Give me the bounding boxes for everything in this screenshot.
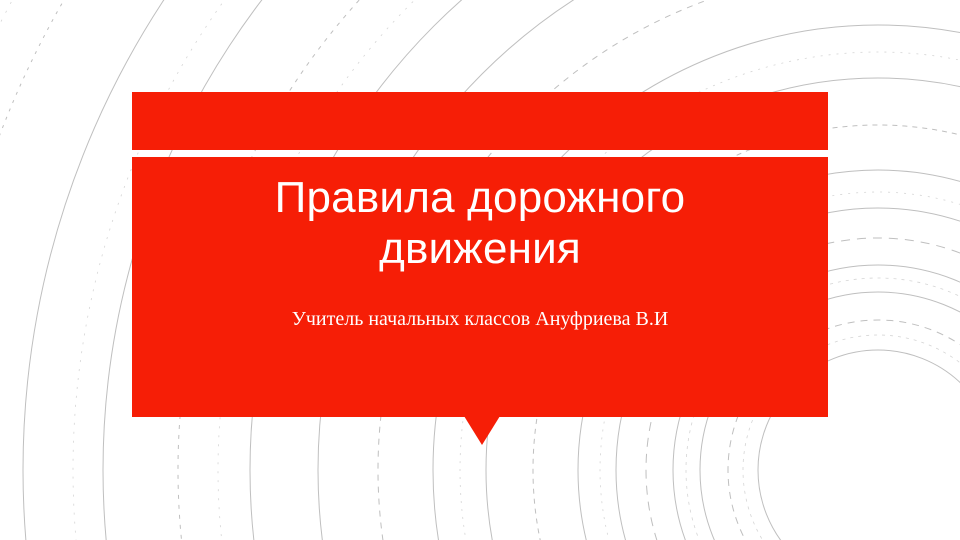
callout-top-bar: [132, 92, 828, 150]
presentation-slide: Правила дорожного движения Учитель начал…: [0, 0, 960, 540]
callout-tail-pointer: [464, 416, 500, 445]
slide-subtitle: Учитель начальных классов Ануфриева В.И: [132, 307, 828, 331]
subtitle-block: Учитель начальных классов Ануфриева В.И: [132, 307, 828, 331]
slide-title: Правила дорожного движения: [132, 172, 828, 274]
title-block: Правила дорожного движения: [132, 172, 828, 274]
